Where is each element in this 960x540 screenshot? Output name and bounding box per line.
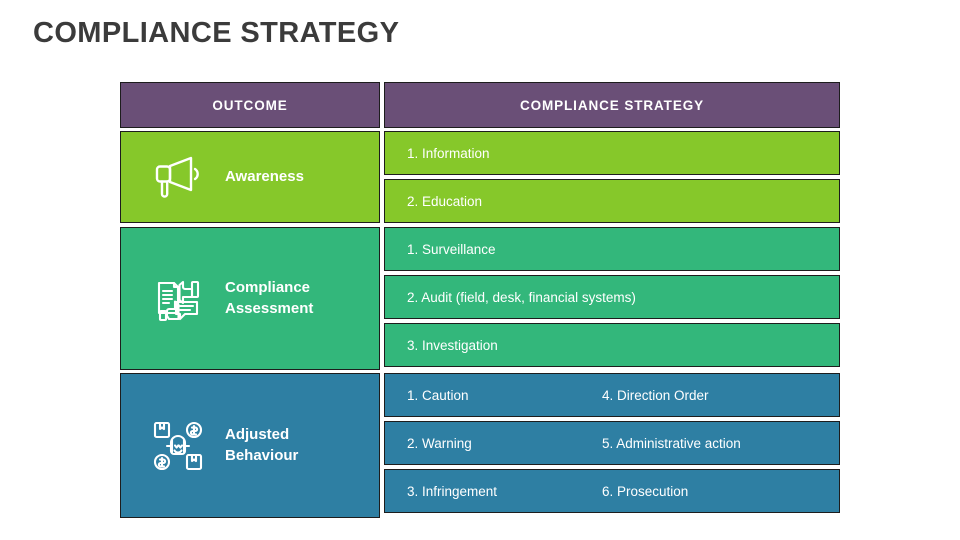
strategy-item-left: 3. Infringement [407, 484, 602, 499]
header-label-strategy: COMPLIANCE STRATEGY [520, 98, 704, 113]
outcome-label-awareness: Awareness [225, 167, 304, 187]
person-boxes-money-icon [147, 415, 209, 477]
page-title: COMPLIANCE STRATEGY [33, 17, 399, 50]
compliance-strategy-matrix: OUTCOME COMPLIANCE STRATEGY Awareness 1.… [120, 82, 840, 518]
strategy-item-left: 2. Education [407, 194, 602, 209]
strategy-item-left: 2. Audit (field, desk, financial systems… [407, 290, 636, 305]
header-cell-strategy: COMPLIANCE STRATEGY [384, 82, 840, 128]
strategy-item-right: 4. Direction Order [602, 388, 709, 403]
outcome-cell-awareness[interactable]: Awareness [120, 131, 380, 223]
header-label-outcome: OUTCOME [212, 98, 287, 113]
strategy-row-warning-administrative-action[interactable]: 2. Warning 5. Administrative action [384, 421, 840, 465]
strategy-item-right: 5. Administrative action [602, 436, 741, 451]
header-cell-outcome: OUTCOME [120, 82, 380, 128]
strategy-row-information[interactable]: 1. Information [384, 131, 840, 175]
outcome-label-compliance-assessment: Compliance Assessment [225, 278, 313, 319]
outcome-label-adjusted-behaviour: Adjusted Behaviour [225, 425, 298, 466]
strategy-item-left: 1. Surveillance [407, 242, 602, 257]
strategy-item-left: 2. Warning [407, 436, 602, 451]
strategy-item-left: 1. Information [407, 146, 602, 161]
strategy-item-left: 1. Caution [407, 388, 602, 403]
strategy-row-audit[interactable]: 2. Audit (field, desk, financial systems… [384, 275, 840, 319]
strategy-item-left: 3. Investigation [407, 338, 602, 353]
documents-thumbs-icon [147, 268, 209, 330]
strategy-item-right: 6. Prosecution [602, 484, 688, 499]
strategy-row-investigation[interactable]: 3. Investigation [384, 323, 840, 367]
megaphone-icon [147, 146, 209, 208]
strategy-row-education[interactable]: 2. Education [384, 179, 840, 223]
strategy-row-caution-direction-order[interactable]: 1. Caution 4. Direction Order [384, 373, 840, 417]
strategy-row-infringement-prosecution[interactable]: 3. Infringement 6. Prosecution [384, 469, 840, 513]
outcome-cell-compliance-assessment[interactable]: Compliance Assessment [120, 227, 380, 370]
strategy-row-surveillance[interactable]: 1. Surveillance [384, 227, 840, 271]
outcome-cell-adjusted-behaviour[interactable]: Adjusted Behaviour [120, 373, 380, 518]
slide-canvas: COMPLIANCE STRATEGY OUTCOME COMPLIANCE S… [0, 0, 960, 540]
